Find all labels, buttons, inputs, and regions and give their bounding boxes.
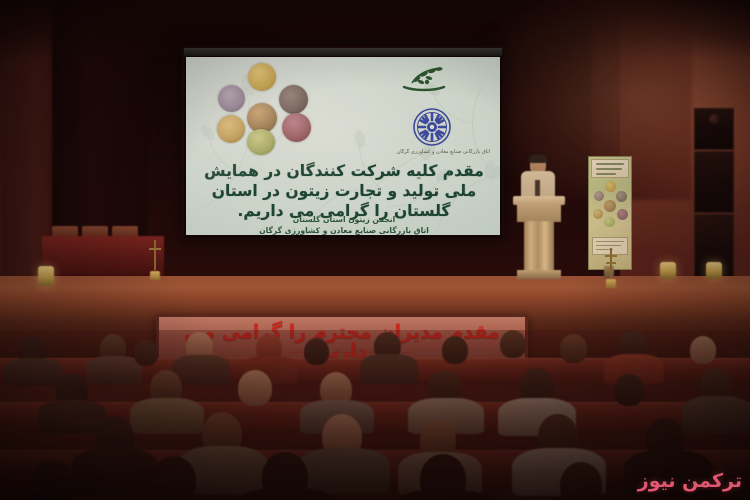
rollup-circle <box>604 200 616 212</box>
candelabra-arm <box>606 262 616 264</box>
product-circle-dark-olives <box>279 85 308 114</box>
candelabra-arm <box>605 255 617 257</box>
candelabra-stem <box>154 240 156 270</box>
stage-candelabra <box>148 240 162 280</box>
product-circle-olives-golden <box>248 63 276 91</box>
logo-caption-text: اتاق بازرگانی صنایع معادن و کشاورزی گرگا… <box>340 149 490 155</box>
organizer-line-1: انجمن زیتون استان گلستان <box>196 215 492 226</box>
rollup-circle <box>604 217 615 227</box>
podium-base <box>517 270 561 279</box>
stage-lamp <box>706 262 722 279</box>
presenter-hair <box>529 154 547 163</box>
stage-candelabra <box>604 248 618 288</box>
candelabra-base <box>606 279 616 288</box>
pa-speaker-stack-right <box>694 108 734 279</box>
rosette-emblem-logo <box>412 107 452 147</box>
pa-speaker-box <box>694 108 734 150</box>
stage-lamp <box>38 266 54 286</box>
source-watermark: ترکمن نیوز <box>638 470 742 492</box>
rollup-circle <box>605 181 616 192</box>
pa-speaker-cone <box>709 114 719 124</box>
podium-body <box>517 204 561 222</box>
pa-speaker-box <box>694 151 734 213</box>
product-circle-olive-relish <box>282 113 311 142</box>
projected-slide: اتاق بازرگانی صنایع معادن و کشاورزی گرگا… <box>186 57 500 235</box>
projection-screen: اتاق بازرگانی صنایع معادن و کشاورزی گرگا… <box>182 46 504 240</box>
candelabra-arm <box>149 248 161 250</box>
panel-table <box>42 236 164 276</box>
rollup-circle <box>593 209 603 219</box>
rollup-circle <box>617 209 628 220</box>
rollup-circle <box>616 191 627 202</box>
product-circle-olive-paste <box>218 85 245 112</box>
slide-headline-text: مقدم کلیه شرکت کنندگان در همایش ملی تولی… <box>196 161 492 221</box>
stage-lamp <box>660 262 676 279</box>
candelabra-base <box>150 271 160 280</box>
organizer-line-2: اتاق بازرگانی صنایع معادن و کشاورزی گرگا… <box>196 226 492 235</box>
auditorium-photo: اتاق بازرگانی صنایع معادن و کشاورزی گرگا… <box>0 0 750 500</box>
olive-product-circles <box>216 63 336 153</box>
rollup-circle <box>594 191 604 201</box>
slide-organizers: انجمن زیتون استان گلستان اتاق بازرگانی ص… <box>196 215 492 235</box>
rollup-title-block <box>591 159 629 178</box>
product-circle-pickled-olives <box>217 115 245 143</box>
olive-branch-logo <box>400 65 448 97</box>
podium-column <box>524 221 554 274</box>
screen-top-rail <box>184 48 502 56</box>
product-circle-green-olives <box>247 129 275 155</box>
